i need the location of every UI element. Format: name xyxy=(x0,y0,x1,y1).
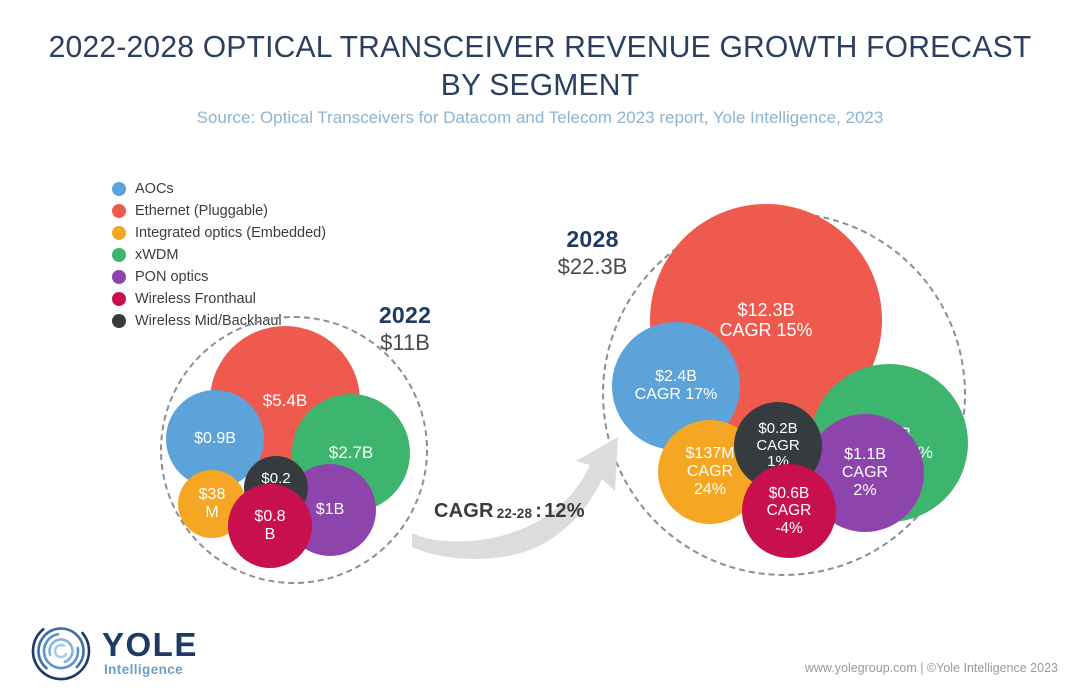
legend-item-label: Ethernet (Pluggable) xyxy=(135,200,268,222)
bubble-cagr-label: CAGR 2% xyxy=(842,464,888,499)
yole-wordmark: YOLE xyxy=(102,628,198,662)
bubble-cluster-2028: $12.3BCAGR 15% $5.6BCAGR 12% $2.4BCAGR 1… xyxy=(602,212,970,580)
legend-color-dot-icon xyxy=(112,314,126,328)
copyright-notice: www.yolegroup.com | ©Yole Intelligence 2… xyxy=(805,661,1058,675)
cagr-prefix-label: CAGR xyxy=(434,500,494,522)
bubble-value-label: $0.6B xyxy=(769,485,810,502)
yole-tagline: Intelligence xyxy=(104,662,183,677)
bubble-value-label: $0.9B xyxy=(194,430,236,448)
legend-color-dot-icon xyxy=(112,248,126,262)
bubble-value-label: $1.1B xyxy=(844,446,886,463)
bubble-value-label: $0.8 B xyxy=(254,508,285,544)
bubble-cluster-2022: $5.4B $2.7B $0.9B $1B $38 M $0.2 B $0.8 … xyxy=(160,316,432,588)
bubble-cagr-label: CAGR -4% xyxy=(767,502,812,536)
bubble-value-label: $2.7B xyxy=(329,443,373,462)
legend-color-dot-icon xyxy=(112,270,126,284)
legend-color-dot-icon xyxy=(112,226,126,240)
bubble-value-label: $1B xyxy=(316,501,344,519)
legend-color-dot-icon xyxy=(112,292,126,306)
bubble-text: $2.4BCAGR 17% xyxy=(635,368,718,404)
legend-item-label: Wireless Fronthaul xyxy=(135,288,256,310)
bubble-text: $0.6BCAGR -4% xyxy=(767,485,812,537)
bubble-text: $12.3BCAGR 15% xyxy=(719,300,812,340)
source-subtitle: Source: Optical Transceivers for Datacom… xyxy=(20,108,1060,128)
overall-cagr-annotation: CAGR22-28:12% xyxy=(434,500,585,523)
bubble-value-label: $38 M xyxy=(199,486,226,522)
yole-spiral-icon xyxy=(30,620,94,682)
bubble-value-label: $2.4B xyxy=(655,368,697,385)
bubble-cagr-label: CAGR 15% xyxy=(719,320,812,340)
legend-item-aocs[interactable]: AOCs xyxy=(112,178,326,200)
page-title: 2022-2028 OPTICAL TRANSCEIVER REVENUE GR… xyxy=(36,28,1045,104)
legend-item-pon-optics[interactable]: PON optics xyxy=(112,266,326,288)
legend-item-xwdm[interactable]: xWDM xyxy=(112,244,326,266)
infographic-canvas: 2022-2028 OPTICAL TRANSCEIVER REVENUE GR… xyxy=(0,0,1080,698)
legend: AOCs Ethernet (Pluggable) Integrated opt… xyxy=(112,178,326,332)
legend-item-ethernet[interactable]: Ethernet (Pluggable) xyxy=(112,200,326,222)
bubble-cagr-label: CAGR 24% xyxy=(687,463,733,498)
legend-item-integrated-optics[interactable]: Integrated optics (Embedded) xyxy=(112,222,326,244)
bubble-text: $137MCAGR 24% xyxy=(686,445,735,499)
legend-color-dot-icon xyxy=(112,182,126,196)
legend-item-wireless-fronthaul[interactable]: Wireless Fronthaul xyxy=(112,288,326,310)
bubble-cagr-label: CAGR 17% xyxy=(635,386,718,403)
bubble-2028-wireless-fronthaul[interactable]: $0.6BCAGR -4% xyxy=(742,464,836,558)
yole-logo: YOLE Intelligence xyxy=(30,618,230,684)
legend-item-label: xWDM xyxy=(135,244,179,266)
bubble-value-label: $0.2B xyxy=(758,420,797,437)
cagr-period-label: 22-28 xyxy=(497,506,533,521)
legend-color-dot-icon xyxy=(112,204,126,218)
bubble-value-label: $137M xyxy=(686,445,735,462)
cagr-colon: : xyxy=(535,500,542,522)
legend-item-label: AOCs xyxy=(135,178,174,200)
bubble-value-label: $5.4B xyxy=(263,391,307,410)
bubble-2022-wireless-fronthaul[interactable]: $0.8 B xyxy=(228,484,312,568)
cagr-value-label: 12% xyxy=(544,500,585,522)
bubble-value-label: $12.3B xyxy=(737,300,794,320)
bubble-text: $1.1BCAGR 2% xyxy=(842,446,888,500)
legend-item-label: PON optics xyxy=(135,266,208,288)
legend-item-label: Integrated optics (Embedded) xyxy=(135,222,326,244)
